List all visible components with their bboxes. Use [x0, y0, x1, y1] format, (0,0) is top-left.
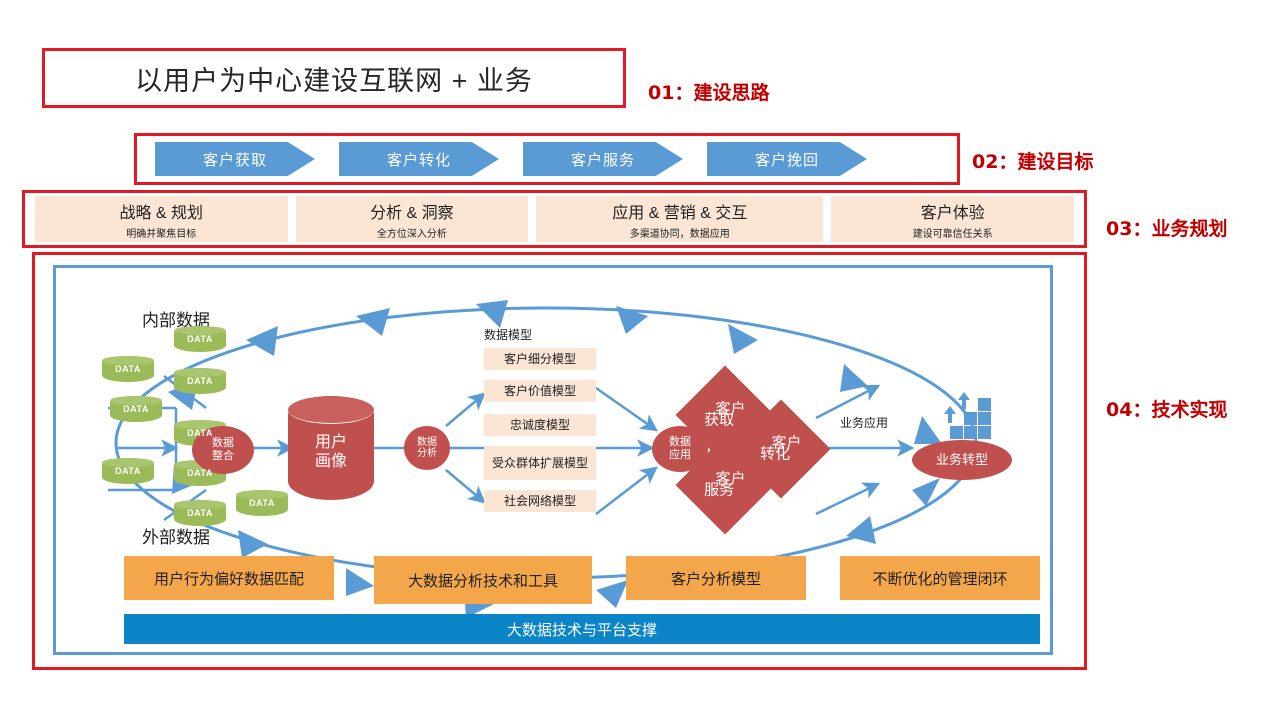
foundation-box-bigdata-tools[interactable]: 大数据分析技术和工具 — [374, 556, 592, 604]
planning-cell-title: 客户体验 — [921, 199, 985, 223]
diamond-line-2: 获取 — [704, 413, 734, 430]
data-cylinder-label: DATA — [249, 498, 275, 508]
planning-cell-title: 应用 & 营销 & 交互 — [612, 199, 747, 223]
node-line-1: 用户 — [315, 425, 347, 452]
foundation-box-continuous-optimization[interactable]: 不断优化的管理闭环 — [840, 556, 1040, 600]
platform-support-label: 大数据技术与平台支撑 — [507, 619, 657, 640]
planning-cell-analysis[interactable]: 分析 & 洞察 全方位深入分析 — [296, 196, 529, 242]
node-business-transformation[interactable]: 业务转型 — [912, 440, 1012, 480]
label-external-data: 外部数据 — [142, 523, 210, 548]
model-box-value[interactable]: 客户价值模型 — [484, 380, 596, 402]
section-label-01: 01：建设思路 — [648, 78, 769, 105]
model-box-audience-expansion[interactable]: 受众群体扩展模型 — [484, 446, 596, 480]
data-cylinder-label: DATA — [187, 468, 213, 478]
foundation-box-label: 不断优化的管理闭环 — [872, 568, 1007, 589]
node-line-2: 应用 — [669, 449, 691, 462]
data-cylinder-label: DATA — [187, 334, 213, 344]
node-line-1: 数据 — [417, 437, 437, 449]
chevron-label: 客户转化 — [387, 149, 451, 170]
node-label: 业务转型 — [936, 453, 988, 468]
section-label-04: 04：技术实现 — [1106, 395, 1227, 422]
planning-cell-subtitle: 建设可靠信任关系 — [913, 225, 993, 240]
planning-cell-subtitle: 明确并聚焦目标 — [126, 225, 196, 240]
platform-support-bar[interactable]: 大数据技术与平台支撑 — [124, 614, 1040, 644]
data-cylinder-icon: DATA — [174, 326, 226, 352]
model-box-loyalty[interactable]: 忠诚度模型 — [484, 414, 596, 436]
section-label-02: 02：建设目标 — [972, 147, 1093, 174]
data-cylinder-icon: DATA — [110, 396, 162, 422]
growth-blocks-icon — [936, 392, 990, 440]
chevron-gap — [683, 142, 707, 176]
technical-outer-frame: 内部数据 外部数据 DATA DATA DATA DATA DATA DATA … — [32, 252, 1087, 670]
planning-band: 战略 & 规划 明确并聚焦目标 分析 & 洞察 全方位深入分析 应用 & 营销 … — [22, 190, 1087, 248]
section-label-03: 03：业务规划 — [1106, 214, 1227, 241]
chevron-label: 客户获取 — [203, 149, 267, 170]
node-line-1: 数据 — [669, 436, 691, 449]
chevron-customer-conversion[interactable]: 客户转化 — [339, 142, 499, 176]
main-title-box: 以用户为中心建设互联网 + 业务 — [42, 48, 626, 108]
data-cylinder-icon: DATA — [102, 458, 154, 484]
chevron-group: 客户获取 客户转化 客户服务 客户挽回 — [155, 142, 867, 176]
node-line-1: 数据 — [212, 437, 234, 450]
diamond-line-2: 转化 — [760, 447, 790, 464]
chevron-customer-service[interactable]: 客户服务 — [523, 142, 683, 176]
data-cylinder-icon: DATA — [174, 500, 226, 526]
planning-cell-application[interactable]: 应用 & 营销 & 交互 多渠道协同，数据应用 — [536, 196, 823, 242]
data-cylinder-icon: DATA — [236, 490, 288, 516]
foundation-box-label: 大数据分析技术和工具 — [408, 570, 558, 591]
node-line-2: 整合 — [212, 450, 234, 463]
model-box-label: 客户细分模型 — [504, 353, 576, 366]
planning-cell-subtitle: 全方位深入分析 — [377, 225, 447, 240]
data-cylinder-label: DATA — [115, 364, 141, 374]
node-line-2: 分析 — [417, 448, 437, 460]
node-data-analysis[interactable]: 数据 分析 — [404, 426, 450, 470]
data-cylinder-icon: DATA — [174, 368, 226, 394]
data-cylinder-label: DATA — [115, 466, 141, 476]
model-box-segmentation[interactable]: 客户细分模型 — [484, 348, 596, 370]
planning-cell-experience[interactable]: 客户体验 建设可靠信任关系 — [831, 196, 1074, 242]
model-list-heading: 数据模型 — [484, 326, 532, 343]
node-user-profile[interactable]: 用户 画像 — [288, 396, 374, 500]
planning-cell-title: 战略 & 规划 — [119, 199, 203, 223]
chevron-gap — [315, 142, 339, 176]
planning-cell-subtitle: 多渠道协同，数据应用 — [630, 225, 730, 240]
technical-inner-frame: 内部数据 外部数据 DATA DATA DATA DATA DATA DATA … — [53, 265, 1053, 655]
model-box-label: 社会网络模型 — [504, 495, 576, 508]
chevron-customer-acquisition[interactable]: 客户获取 — [155, 142, 315, 176]
foundation-box-label: 用户行为偏好数据匹配 — [154, 568, 304, 589]
model-box-social-network[interactable]: 社会网络模型 — [484, 490, 596, 512]
diamond-line-2: 服务 — [704, 483, 734, 500]
foundation-box-label: 客户分析模型 — [671, 568, 761, 589]
chevron-label: 客户服务 — [571, 149, 635, 170]
node-line-2: 画像 — [315, 452, 347, 471]
planning-cell-strategy[interactable]: 战略 & 规划 明确并聚焦目标 — [35, 196, 288, 242]
chevron-gap — [499, 142, 523, 176]
data-cylinder-label: DATA — [187, 508, 213, 518]
model-box-label: 受众群体扩展模型 — [492, 457, 588, 470]
data-cylinder-label: DATA — [187, 376, 213, 386]
goals-band: 客户获取 客户转化 客户服务 客户挽回 — [134, 133, 960, 185]
label-business-application: 业务应用 — [840, 414, 888, 431]
chevron-label: 客户挽回 — [755, 149, 819, 170]
data-cylinder-icon: DATA — [102, 356, 154, 382]
planning-cell-title: 分析 & 洞察 — [370, 199, 454, 223]
data-cylinder-label: DATA — [123, 404, 149, 414]
foundation-box-customer-analysis-model[interactable]: 客户分析模型 — [626, 556, 806, 600]
page-title: 以用户为中心建设互联网 + 业务 — [135, 59, 533, 98]
model-box-label: 忠诚度模型 — [510, 419, 570, 432]
model-box-label: 客户价值模型 — [504, 385, 576, 398]
data-cylinder-label: DATA — [187, 428, 213, 438]
foundation-box-behavior-matching[interactable]: 用户行为偏好数据匹配 — [124, 556, 334, 600]
chevron-customer-winback[interactable]: 客户挽回 — [707, 142, 867, 176]
slide-canvas: 以用户为中心建设互联网 + 业务 01：建设思路 客户获取 客户转化 客户服务 … — [0, 0, 1280, 720]
